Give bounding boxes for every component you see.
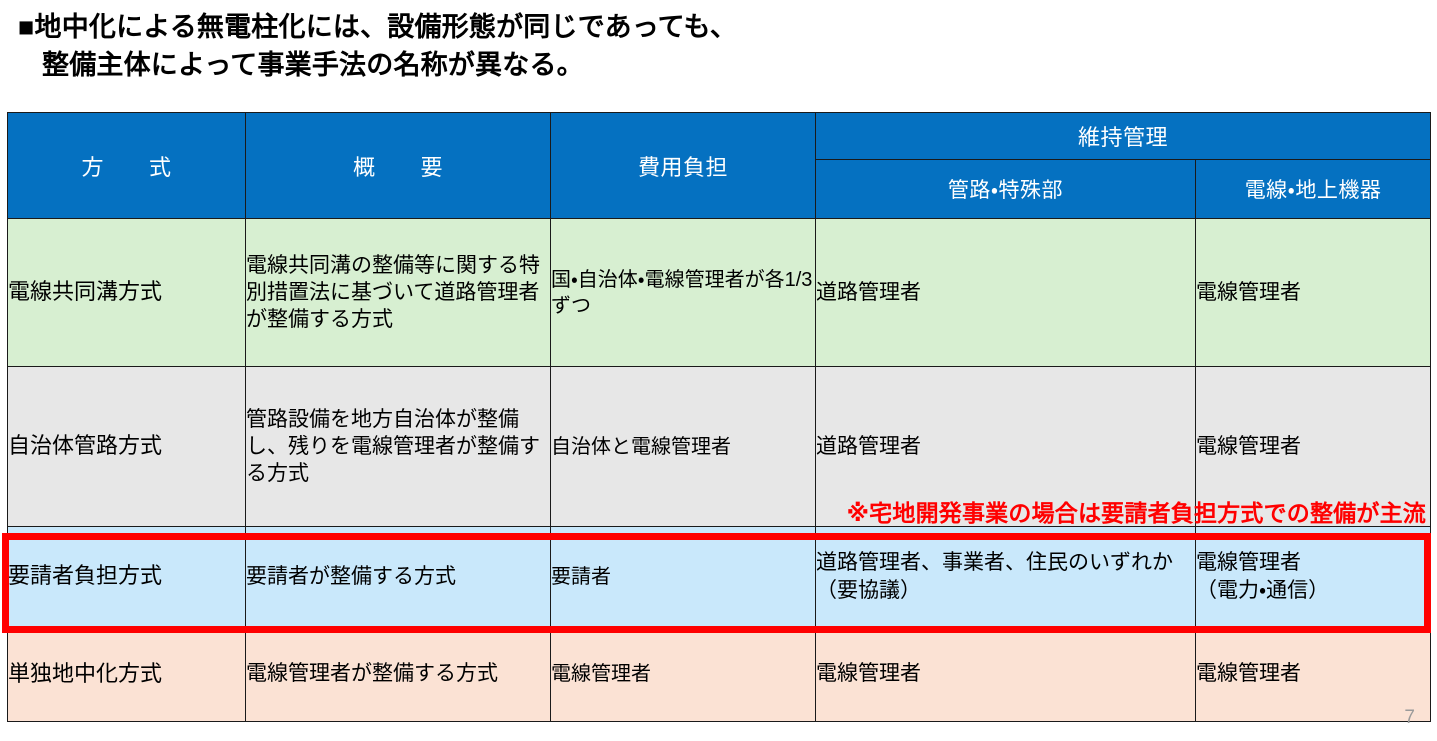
table-row: 単独地中化方式 電線管理者が整備する方式 電線管理者 電線管理者 電線管理者 [8,627,1431,722]
cell-method: 自治体管路方式 [8,367,246,527]
page-number: 7 [1404,707,1415,729]
heading-line-2: 整備主体によって事業手法の名称が異なる。 [18,46,1437,84]
column-header-maintenance-group: 維持管理 [816,113,1431,160]
table-head: 方 式 概 要 費用負担 維持管理 管路・特殊部 電線・地上機器 [8,113,1431,219]
cell-maintenance-wire: 電線管理者 [1196,219,1431,367]
column-header-cost: 費用負担 [551,113,816,219]
column-header-method: 方 式 [8,113,246,219]
cell-cost: 国・自治体・電線管理者が各1/3ずつ [551,219,816,367]
cell-maintenance-wire: 電線管理者 （電力・通信） [1196,527,1431,627]
cell-maintenance-wire: 電線管理者 [1196,627,1431,722]
cell-outline: 電線管理者が整備する方式 [246,627,551,722]
column-header-outline: 概 要 [246,113,551,219]
cell-cost: 電線管理者 [551,627,816,722]
table-header-row-1: 方 式 概 要 費用負担 維持管理 [8,113,1431,160]
page-heading: ■地中化による無電柱化には、設備形態が同じであっても、 整備主体によって事業手法… [0,0,1437,85]
table-row: 電線共同溝方式 電線共同溝の整備等に関する特別措置法に基づいて道路管理者が整備す… [8,219,1431,367]
table-body: 電線共同溝方式 電線共同溝の整備等に関する特別措置法に基づいて道路管理者が整備す… [8,219,1431,722]
cell-outline: 電線共同溝の整備等に関する特別措置法に基づいて道路管理者が整備する方式 [246,219,551,367]
red-annotation-note: ※宅地開発事業の場合は要請者負担方式での整備が主流 [486,494,1426,528]
cell-maintenance-pipe: 道路管理者 [816,219,1196,367]
table-row-highlighted: 要請者負担方式 要請者が整備する方式 要請者 道路管理者、事業者、住民のいずれか… [8,527,1431,627]
methods-table: 方 式 概 要 費用負担 維持管理 管路・特殊部 電線・地上機器 電線共同溝方式… [7,112,1431,722]
heading-line-1: ■地中化による無電柱化には、設備形態が同じであっても、 [18,8,1437,46]
column-header-maintenance-pipe: 管路・特殊部 [816,160,1196,219]
methods-table-container: 方 式 概 要 費用負担 維持管理 管路・特殊部 電線・地上機器 電線共同溝方式… [7,112,1430,719]
column-header-maintenance-wire: 電線・地上機器 [1196,160,1431,219]
cell-outline: 要請者が整備する方式 [246,527,551,627]
cell-maintenance-pipe: 道路管理者、事業者、住民のいずれか（要協議） [816,527,1196,627]
cell-method: 要請者負担方式 [8,527,246,627]
cell-method: 単独地中化方式 [8,627,246,722]
cell-cost: 要請者 [551,527,816,627]
cell-maintenance-pipe: 電線管理者 [816,627,1196,722]
cell-method: 電線共同溝方式 [8,219,246,367]
